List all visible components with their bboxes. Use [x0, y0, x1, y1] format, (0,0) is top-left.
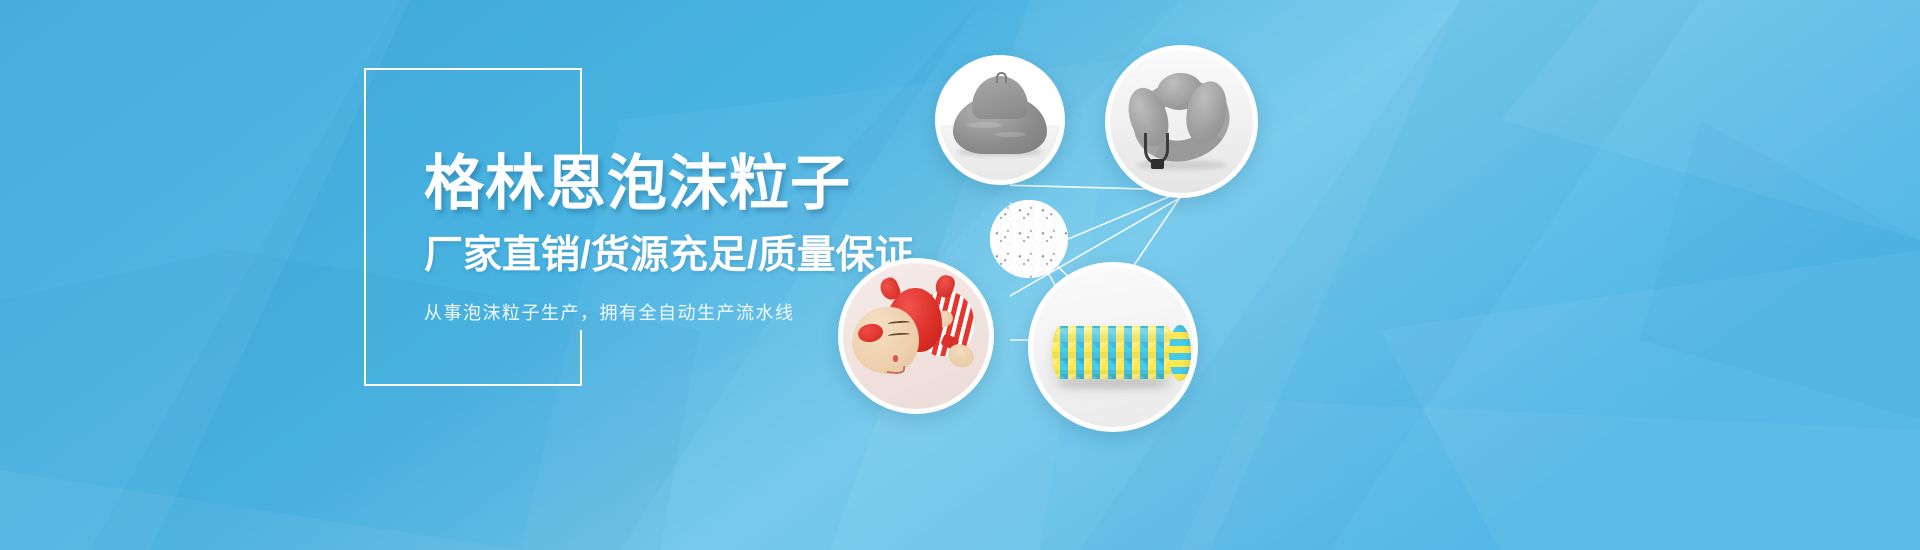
promo-banner: 格林恩泡沫粒子 厂家直销/货源充足/质量保证 从事泡沫粒子生产，拥有全自动生产流… [0, 0, 1920, 550]
product-node-block-pillow[interactable] [1028, 262, 1198, 432]
plush-toy-illustration [843, 263, 989, 409]
block-pillow-illustration [1033, 267, 1193, 427]
bean-bag-chair-illustration [940, 60, 1060, 180]
product-network-diagram [1010, 40, 1510, 440]
product-node-plush-toy[interactable] [838, 258, 994, 414]
neck-pillow-illustration [1110, 50, 1253, 193]
product-node-neck-pillow[interactable] [1105, 45, 1258, 198]
product-node-bean-bag-chair[interactable] [935, 55, 1065, 185]
